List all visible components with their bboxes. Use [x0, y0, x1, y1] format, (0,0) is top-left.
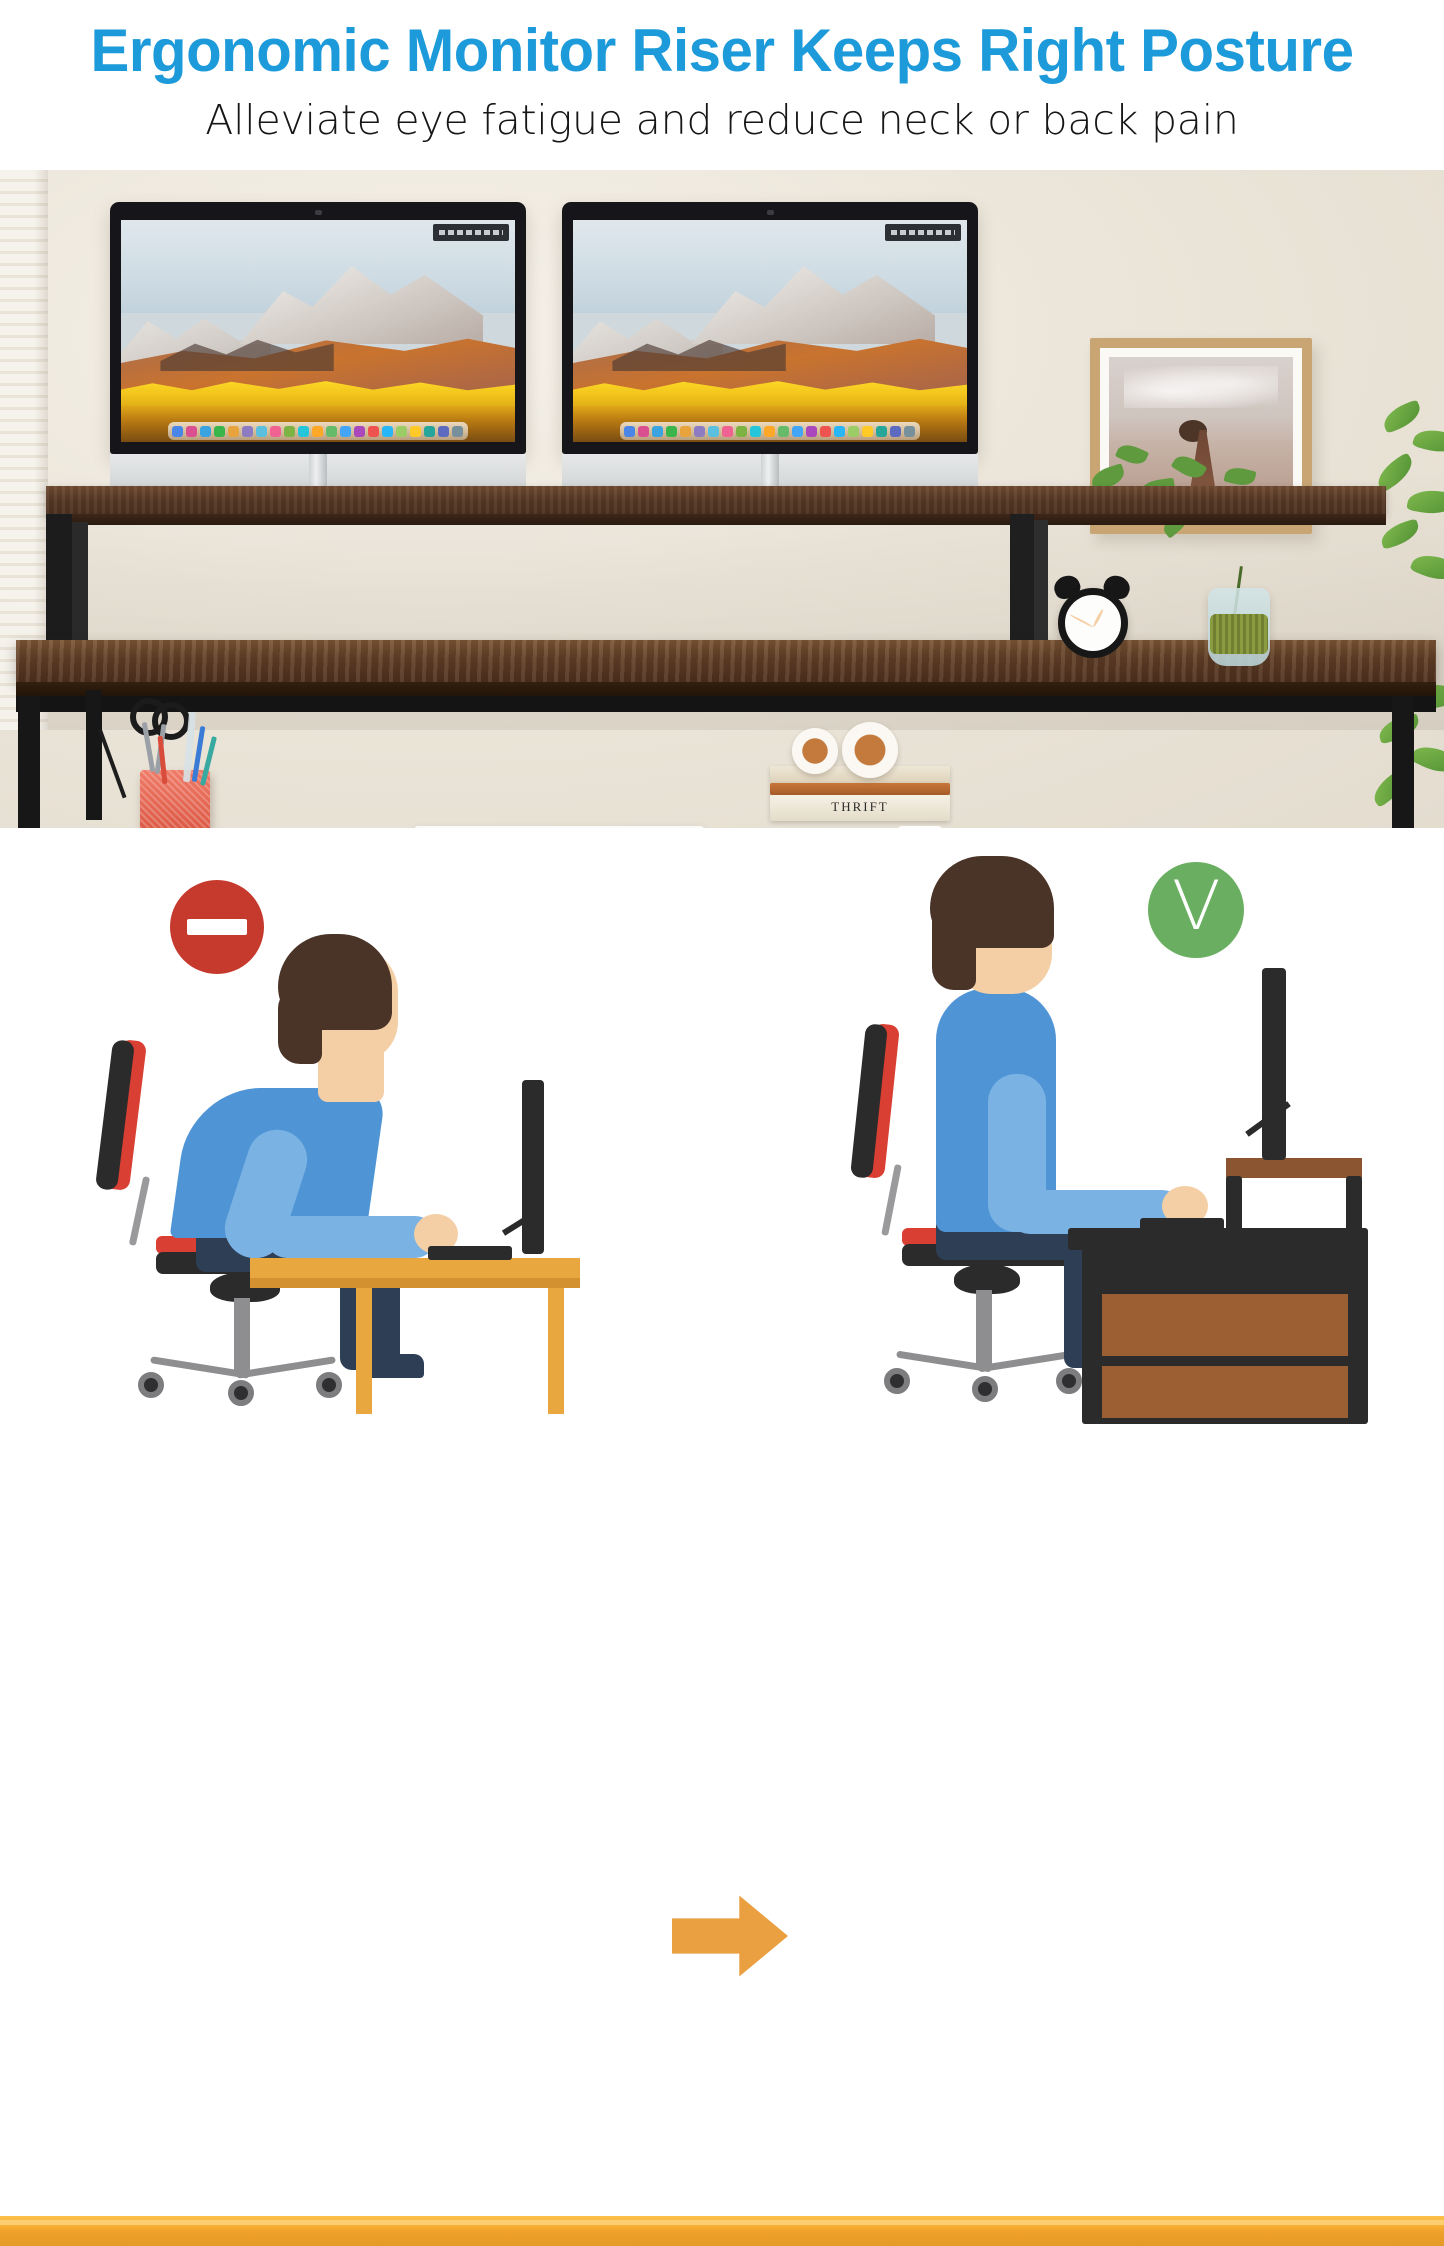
good-posture-scene: V	[810, 828, 1444, 1444]
person-forearm	[266, 1216, 436, 1258]
dock-icon	[396, 426, 407, 437]
dock-icon	[312, 426, 323, 437]
dock-icon	[638, 426, 649, 437]
dock-icon	[652, 426, 663, 437]
clock-face	[1058, 588, 1128, 658]
desk-leg-right	[1392, 696, 1414, 828]
bad-desk-top	[250, 1258, 580, 1278]
bad-desk-leg-left	[356, 1288, 372, 1414]
dock-icon	[792, 426, 803, 437]
dock-icon	[904, 426, 915, 437]
good-desk-drawer-lower	[1102, 1366, 1348, 1418]
book-middle	[770, 783, 950, 795]
dock-icon	[890, 426, 901, 437]
chair-wheel-right	[316, 1372, 342, 1398]
dock-icon	[708, 426, 719, 437]
dock-icon	[750, 426, 761, 437]
monitor-screen	[573, 220, 967, 442]
dock-icon	[242, 426, 253, 437]
monitor-bezel	[562, 202, 978, 454]
dock-icon	[680, 426, 691, 437]
dock-icon	[326, 426, 337, 437]
chair-wheel-mid	[228, 1380, 254, 1406]
dock-icon	[382, 426, 393, 437]
dock-icon	[624, 426, 635, 437]
right-arrow-icon	[672, 1892, 788, 1980]
macos-dock	[620, 422, 919, 440]
bad-desk-edge	[250, 1278, 580, 1288]
art-clouds	[1124, 366, 1279, 407]
dock-icon	[256, 426, 267, 437]
dock-icon	[284, 426, 295, 437]
good-desk-riser-leg-right	[1346, 1176, 1362, 1232]
good-desk-drawer-upper	[1102, 1294, 1348, 1356]
vase	[1208, 566, 1270, 666]
bad-desk-monitor	[522, 1080, 544, 1254]
dock-icon	[806, 426, 817, 437]
webcam	[315, 210, 322, 215]
header-band: Ergonomic Monitor Riser Keeps Right Post…	[0, 0, 1444, 170]
dock-icon	[340, 426, 351, 437]
macos-dock	[168, 422, 467, 440]
dock-icon	[778, 426, 789, 437]
desk-leg-back-left	[86, 690, 102, 820]
chair-post	[234, 1298, 250, 1372]
bad-desk-keyboard	[428, 1246, 512, 1260]
dock-icon	[722, 426, 733, 437]
coffee-cup	[884, 818, 956, 828]
riser-shelf-edge	[46, 514, 1386, 525]
dock-icon	[172, 426, 183, 437]
dock-icon	[368, 426, 379, 437]
alarm-clock	[1052, 570, 1134, 662]
chair-back-rail	[881, 1164, 902, 1236]
dock-icon	[424, 426, 435, 437]
menu-bar-widget	[885, 224, 961, 241]
right-monitor	[562, 202, 978, 492]
good-desk-monitor	[1262, 968, 1286, 1160]
dock-icon	[298, 426, 309, 437]
chair-base-right	[978, 1351, 1074, 1373]
monitor-screen	[121, 220, 515, 442]
desk-leg-front-left	[18, 696, 40, 828]
check-badge-symbol: V	[1172, 873, 1221, 941]
dock-icon	[438, 426, 449, 437]
dock-icon	[876, 426, 887, 437]
chair-back-rail	[129, 1176, 150, 1246]
posture-comparison-illustration: V	[0, 828, 1444, 1444]
person-foot	[368, 1354, 424, 1378]
dock-icon	[834, 426, 845, 437]
bad-posture-scene	[0, 828, 700, 1444]
desk-apron	[16, 696, 1436, 712]
chair-post	[976, 1290, 992, 1366]
vase-woven-wrap	[1210, 614, 1268, 654]
chair-wheel-mid	[972, 1376, 998, 1402]
dock-icon	[410, 426, 421, 437]
dock-icon	[820, 426, 831, 437]
dock-icon	[214, 426, 225, 437]
monitor-bezel	[110, 202, 526, 454]
floor-bar-highlight	[0, 2220, 1444, 2225]
desk-edge	[16, 682, 1436, 696]
dock-icon	[186, 426, 197, 437]
page-subtitle: Alleviate eye fatigue and reduce neck or…	[0, 96, 1444, 144]
dock-icon	[452, 426, 463, 437]
chair-wheel-right	[1056, 1368, 1082, 1394]
dock-icon	[200, 426, 211, 437]
webcam	[767, 210, 774, 215]
bad-desk-leg-right	[548, 1288, 564, 1414]
check-badge: V	[1148, 862, 1244, 958]
product-lifestyle-photo: THRIFT EPSON EPSON	[0, 170, 1444, 828]
scissors	[128, 698, 184, 776]
printer: EPSON EPSON	[1060, 818, 1360, 828]
headphone-earcup-left	[792, 728, 838, 774]
headphone-earcup-right	[842, 722, 898, 778]
pen-holder	[140, 770, 210, 828]
dock-icon	[666, 426, 677, 437]
good-desk-riser-shelf	[1226, 1158, 1362, 1178]
left-monitor	[110, 202, 526, 492]
page-title: Ergonomic Monitor Riser Keeps Right Post…	[22, 16, 1423, 85]
dock-icon	[736, 426, 747, 437]
good-desk-riser-leg-left	[1226, 1176, 1242, 1232]
dock-icon	[694, 426, 705, 437]
good-desk-keyboard	[1140, 1218, 1224, 1232]
chair-wheel-left	[884, 1368, 910, 1394]
person-neck	[318, 1042, 384, 1102]
monitor-riser-shelf	[46, 486, 1386, 514]
chair-wheel-left	[138, 1372, 164, 1398]
person-hair-nape	[278, 988, 322, 1064]
dock-icon	[228, 426, 239, 437]
dock-icon	[862, 426, 873, 437]
prohibition-badge	[170, 880, 264, 974]
dock-icon	[354, 426, 365, 437]
dock-icon	[848, 426, 859, 437]
headphones	[792, 722, 908, 784]
person-hair-nape	[932, 902, 976, 990]
dock-icon	[270, 426, 281, 437]
book-title: THRIFT	[770, 799, 950, 815]
dock-icon	[764, 426, 775, 437]
menu-bar-widget	[433, 224, 509, 241]
